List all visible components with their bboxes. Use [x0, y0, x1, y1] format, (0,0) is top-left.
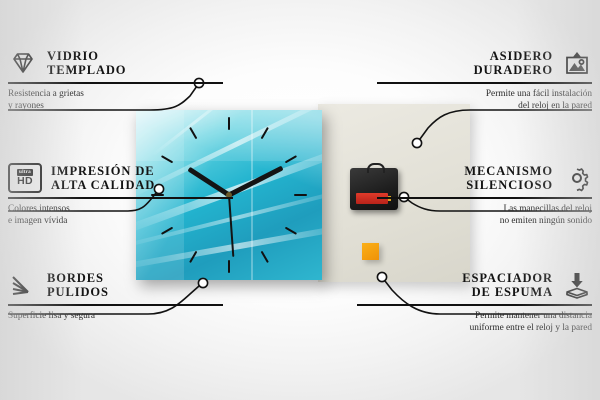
- feature-mecanismo-silencioso: MECANISMO SILENCIOSO Las manecillas del …: [377, 163, 592, 227]
- feature-header: ESPACIADOR DE ESPUMA: [357, 270, 592, 300]
- divider: [377, 197, 592, 199]
- ultra-hd-icon: ultra HD: [8, 163, 42, 193]
- hanging-frame-icon: [562, 48, 592, 78]
- feature-description: Permite mantener una distancia uniforme …: [357, 310, 592, 335]
- foam-spacer-icon: [562, 270, 592, 300]
- feature-description: Resistencia a grietas y rayones: [8, 88, 223, 113]
- feature-description: Las manecillas del reloj no emiten ningú…: [377, 203, 592, 228]
- feature-impresion-alta-calidad: ultra HD IMPRESIÓN DE ALTA CALIDAD Color…: [8, 163, 233, 227]
- divider: [357, 304, 592, 306]
- divider: [377, 82, 592, 84]
- feature-vidrio-templado: VIDRIO TEMPLADO Resistencia a grietas y …: [8, 48, 223, 112]
- divider: [8, 304, 223, 306]
- feature-bordes-pulidos: BORDES PULIDOS Superficie lisa y segura: [8, 270, 223, 322]
- feature-header: MECANISMO SILENCIOSO: [377, 163, 592, 193]
- feature-header: BORDES PULIDOS: [8, 270, 223, 300]
- gear-icon: [562, 163, 592, 193]
- feature-title: IMPRESIÓN DE ALTA CALIDAD: [51, 164, 155, 193]
- divider: [8, 82, 223, 84]
- feature-title: ESPACIADOR DE ESPUMA: [462, 271, 553, 300]
- diamond-icon: [8, 48, 38, 78]
- feature-header: ultra HD IMPRESIÓN DE ALTA CALIDAD: [8, 163, 233, 193]
- feature-header: VIDRIO TEMPLADO: [8, 48, 223, 78]
- infographic-stage: VIDRIO TEMPLADO Resistencia a grietas y …: [0, 0, 600, 400]
- feature-title: BORDES PULIDOS: [47, 271, 109, 300]
- polished-edges-icon: [8, 270, 38, 300]
- feature-title: ASIDERO DURADERO: [474, 49, 553, 78]
- feature-description: Colores intensos e imagen vívida: [8, 203, 233, 228]
- feature-title: VIDRIO TEMPLADO: [47, 49, 126, 78]
- feature-title: MECANISMO SILENCIOSO: [464, 164, 553, 193]
- feature-header: ASIDERO DURADERO: [377, 48, 592, 78]
- feature-espaciador-de-espuma: ESPACIADOR DE ESPUMA Permite mantener un…: [357, 270, 592, 334]
- feature-description: Superficie lisa y segura: [8, 310, 223, 322]
- ultra-hd-icon-main-label: HD: [17, 176, 33, 187]
- feature-asidero-duradero: ASIDERO DURADERO Permite una fácil insta…: [377, 48, 592, 112]
- divider: [8, 197, 233, 199]
- feature-description: Permite una fácil instalación del reloj …: [377, 88, 592, 113]
